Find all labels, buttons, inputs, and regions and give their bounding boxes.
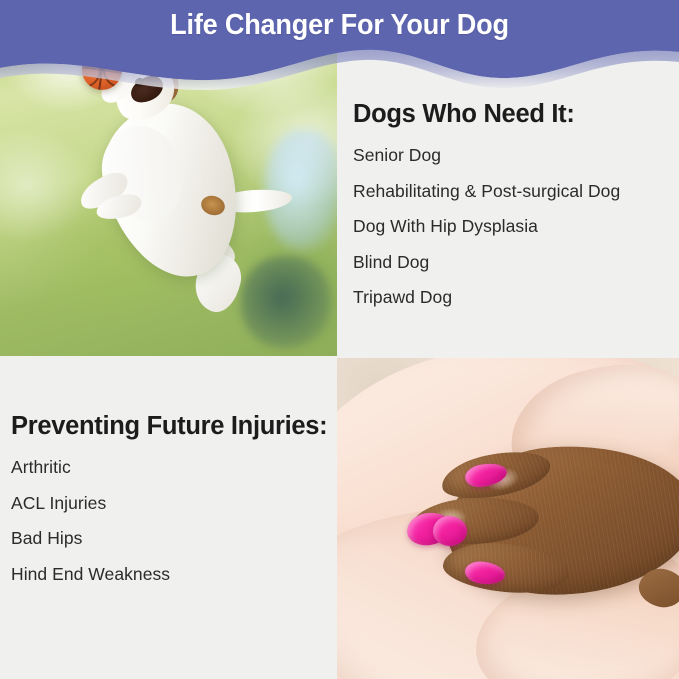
dogs-who-need-it-list: Senior Dog Rehabilitating & Post-surgica… (353, 145, 620, 323)
infographic-poster: Dogs Who Need It: Senior Dog Rehabilitat… (0, 0, 679, 679)
list-item: Dog With Hip Dysplasia (353, 216, 620, 237)
list-item: Senior Dog (353, 145, 620, 166)
preventing-future-injuries-list: Arthritic ACL Injuries Bad Hips Hind End… (11, 457, 170, 599)
list-item: Rehabilitating & Post-surgical Dog (353, 181, 620, 202)
dog-jumping-for-ball-photo (0, 0, 337, 356)
list-item: ACL Injuries (11, 493, 170, 514)
list-item: Blind Dog (353, 252, 620, 273)
list-item: Hind End Weakness (11, 564, 170, 585)
dogs-who-need-it-panel: Dogs Who Need It: Senior Dog Rehabilitat… (337, 56, 679, 358)
list-item: Arthritic (11, 457, 170, 478)
preventing-future-injuries-heading: Preventing Future Injuries: (11, 412, 327, 441)
page-title: Life Changer For Your Dog (17, 9, 662, 42)
dark-shrub-bokeh (241, 256, 331, 348)
list-item: Tripawd Dog (353, 287, 620, 308)
basketball-seam-right (103, 52, 122, 88)
preventing-future-injuries-panel: Preventing Future Injuries: Arthritic AC… (0, 356, 337, 679)
list-item: Bad Hips (11, 528, 170, 549)
dog-paw-with-pink-nail-caps-photo (337, 358, 679, 679)
dogs-who-need-it-heading: Dogs Who Need It: (353, 100, 575, 129)
basketball-toy-icon (82, 50, 122, 90)
basketball-seam-left (82, 52, 101, 88)
